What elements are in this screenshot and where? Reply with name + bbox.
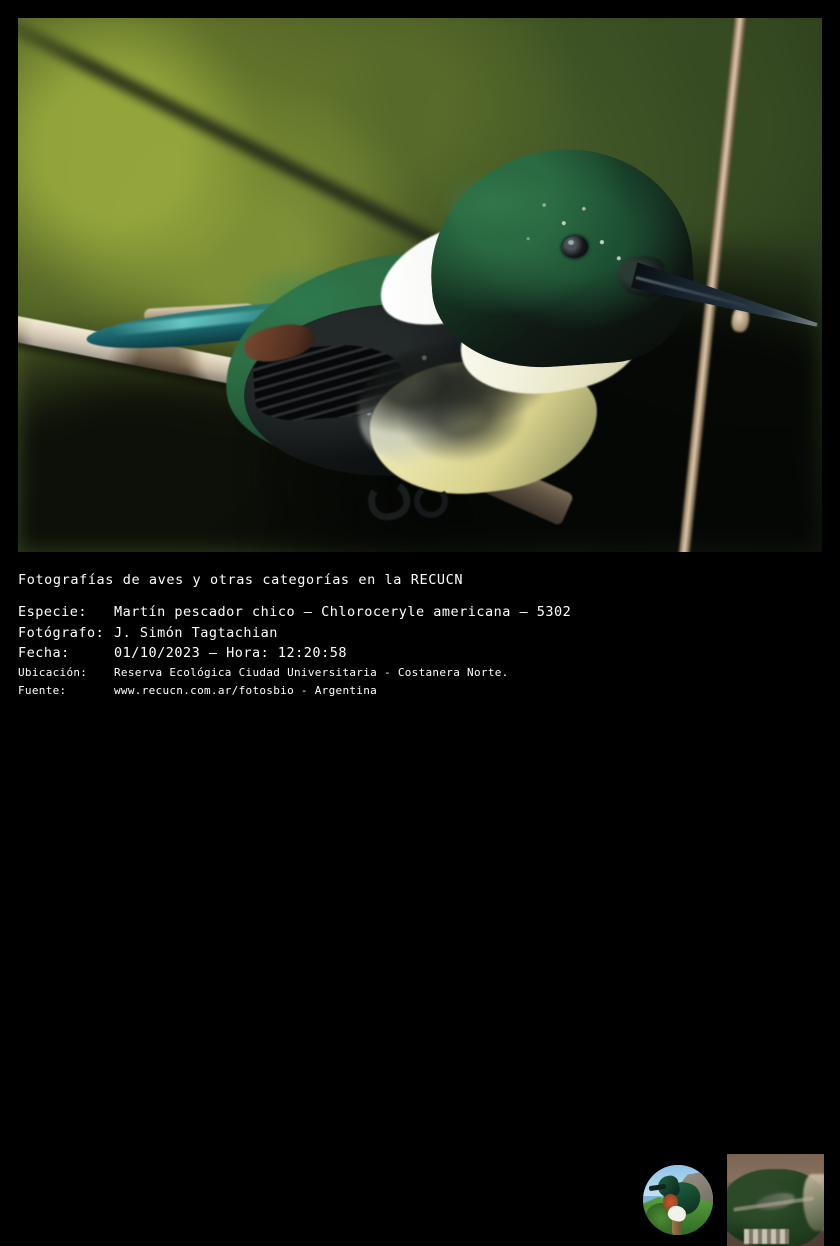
metadata-value: 01/10/2023 – Hora: 12:20:58 <box>114 643 347 664</box>
metadata-row: Fotógrafo:J. Simón Tagtachian <box>18 623 571 644</box>
metadata-label: Ubicación: <box>18 664 114 682</box>
metadata-label: Especie: <box>18 602 114 623</box>
kingfisher-bird <box>58 128 758 528</box>
metadata-value: Martín pescador chico – Chloroceryle ame… <box>114 602 571 623</box>
metadata-list: Especie:Martín pescador chico – Chloroce… <box>18 602 571 700</box>
caption-panel: Fotografías de aves y otras categorías e… <box>0 552 840 708</box>
bird-foot-front <box>364 476 413 524</box>
photograph <box>18 18 822 552</box>
badge-illustration <box>643 1165 713 1235</box>
aerial-thumbnail <box>727 1154 824 1246</box>
bird-eye-glint <box>568 240 574 245</box>
metadata-row: Fuente:www.recucn.com.ar/fotosbio - Arge… <box>18 682 571 700</box>
metadata-value: J. Simón Tagtachian <box>114 623 278 644</box>
metadata-row: Ubicación:Reserva Ecológica Ciudad Unive… <box>18 664 571 682</box>
metadata-label: Fecha: <box>18 643 114 664</box>
metadata-label: Fuente: <box>18 682 114 700</box>
metadata-label: Fotógrafo: <box>18 623 114 644</box>
metadata-row: Fecha:01/10/2023 – Hora: 12:20:58 <box>18 643 571 664</box>
metadata-row: Especie:Martín pescador chico – Chloroce… <box>18 602 571 623</box>
recucn-badge-logo <box>634 1156 722 1244</box>
aerial-buildings <box>744 1229 789 1244</box>
caption-title: Fotografías de aves y otras categorías e… <box>18 572 463 588</box>
metadata-value: Reserva Ecológica Ciudad Universitaria -… <box>114 664 509 682</box>
metadata-value: www.recucn.com.ar/fotosbio - Argentina <box>114 682 377 700</box>
